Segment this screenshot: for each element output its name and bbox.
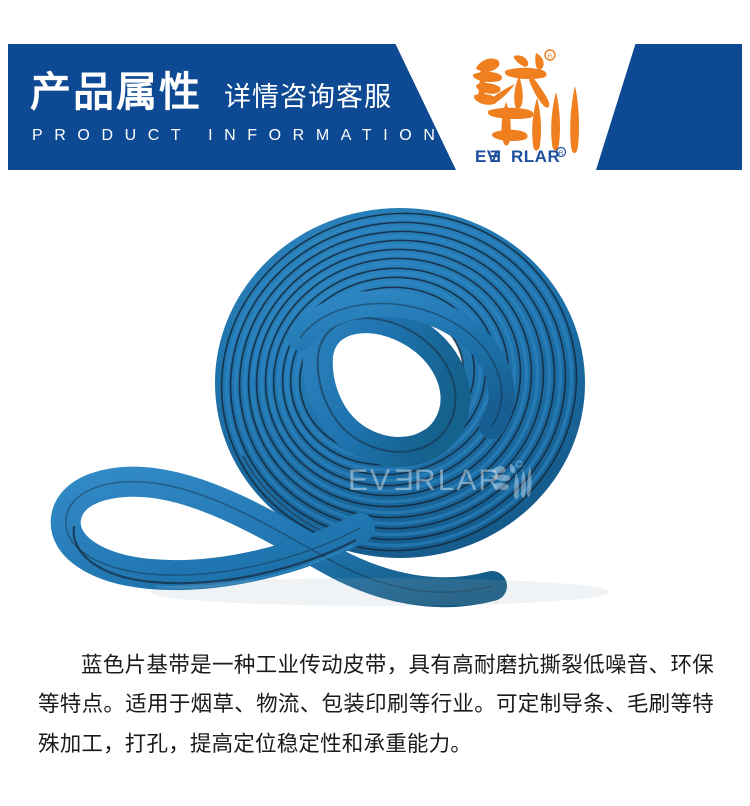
header-title-english: PRODUCT INFORMATION bbox=[32, 127, 446, 145]
header-subtitle: 详情咨询客服 bbox=[224, 84, 392, 111]
brand-logo[interactable]: R EV E RLAR R bbox=[462, 40, 590, 170]
product-photo-graphic bbox=[0, 188, 750, 618]
svg-text:E: E bbox=[489, 147, 501, 166]
product-description: 蓝色片基带是一种工业传动皮带，具有高耐磨抗撕裂低噪音、环保等特点。适用于烟草、物… bbox=[38, 646, 714, 765]
svg-text:R: R bbox=[559, 151, 564, 157]
header-text-group: 产品属性 详情咨询客服 PRODUCT INFORMATION bbox=[30, 44, 450, 170]
svg-text:RLAR: RLAR bbox=[511, 147, 560, 166]
svg-text:R: R bbox=[548, 53, 553, 60]
header-title-row: 产品属性 详情咨询客服 bbox=[30, 72, 392, 113]
header-banner-right bbox=[596, 44, 742, 170]
page-title: 产品属性 bbox=[30, 72, 202, 113]
product-photo: EVERLAR bbox=[0, 188, 750, 618]
brand-logo-graphic: R EV E RLAR R bbox=[462, 40, 590, 170]
page-header: 产品属性 详情咨询客服 PRODUCT INFORMATION bbox=[0, 0, 750, 190]
